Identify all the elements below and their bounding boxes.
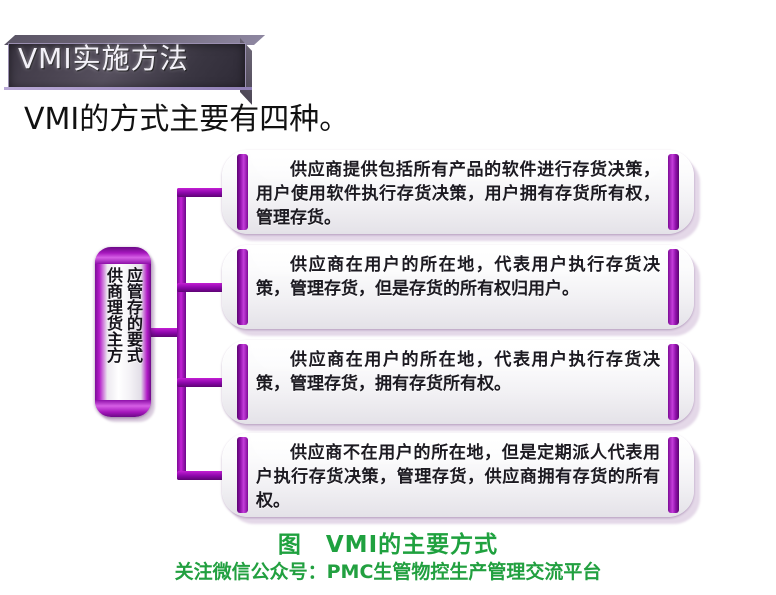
- branch-box-4-right-bar: [668, 437, 679, 513]
- branch-box-4[interactable]: 供应商不在用户的所在地，但是定期派人代表用户执行存货决策，管理存货，供应商拥有存…: [222, 433, 694, 517]
- branch-box-2-left-bar: [237, 249, 248, 325]
- root-node-label-column-left: 供商理货主方: [103, 267, 123, 363]
- watermark-text: 关注微信公众号：PMC生管物控生产管理交流平台: [0, 560, 776, 584]
- root-node-label-column-right: 应管存的要式: [123, 267, 143, 363]
- branch-box-3-text: 供应商在用户的所在地，代表用户执行存货决策，管理存货，拥有存货所有权。: [256, 348, 660, 396]
- branch-box-4-text: 供应商不在用户的所在地，但是定期派人代表用户执行存货决策，管理存货，供应商拥有存…: [256, 441, 660, 513]
- branch-box-2-text: 供应商在用户的所在地，代表用户执行存货决策，管理存货，但是存货的所有权归用户。: [256, 253, 660, 301]
- vmi-tree-diagram: 应管存的要式 供商理货主方 供应商提供包括所有产品的软件进行存货决策，用户使用软…: [0, 0, 776, 595]
- figure-caption: 图 VMI的主要方式: [0, 531, 776, 559]
- branch-box-1-text: 供应商提供包括所有产品的软件进行存货决策，用户使用软件执行存货决策，用户拥有存货…: [256, 158, 660, 230]
- branch-box-1-left-bar: [237, 154, 248, 230]
- root-node-top-cap: [95, 247, 151, 264]
- connector-trunk-vertical: [177, 188, 186, 480]
- branch-box-1[interactable]: 供应商提供包括所有产品的软件进行存货决策，用户使用软件执行存货决策，用户拥有存货…: [222, 150, 694, 234]
- root-node[interactable]: 应管存的要式 供商理货主方: [95, 247, 151, 417]
- branch-box-4-left-bar: [237, 437, 248, 513]
- branch-box-2-right-bar: [668, 249, 679, 325]
- slide-canvas: VMI实施方法 VMI的方式主要有四种。 应管存的要式 供商理货主方: [0, 0, 776, 595]
- root-node-bottom-cap: [95, 400, 151, 417]
- branch-box-3-left-bar: [237, 344, 248, 420]
- root-node-label: 应管存的要式 供商理货主方: [103, 267, 143, 397]
- branch-box-2[interactable]: 供应商在用户的所在地，代表用户执行存货决策，管理存货，但是存货的所有权归用户。: [222, 245, 694, 329]
- branch-box-3-right-bar: [668, 344, 679, 420]
- branch-box-1-right-bar: [668, 154, 679, 230]
- branch-box-3[interactable]: 供应商在用户的所在地，代表用户执行存货决策，管理存货，拥有存货所有权。: [222, 340, 694, 424]
